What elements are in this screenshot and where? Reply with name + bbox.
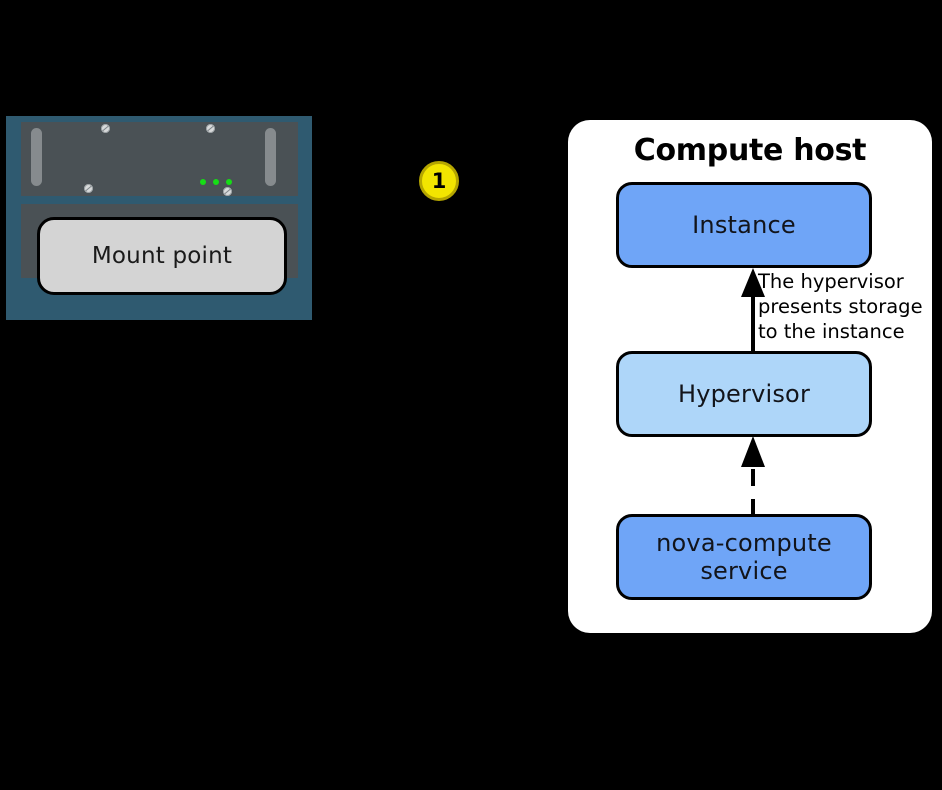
- rack-screw-icon: [101, 124, 110, 133]
- hypervisor-box: Hypervisor: [616, 351, 872, 437]
- mount-point-box: Mount point: [37, 217, 287, 295]
- rack-handle-left-icon: [31, 128, 42, 186]
- nova-compute-label-line-2: service: [700, 557, 787, 585]
- nova-compute-service-box: nova-compute service: [616, 514, 872, 600]
- compute-host-panel: Compute host Instance 3 The hypervisor p…: [568, 120, 932, 633]
- annotation-line-2: presents storage: [758, 295, 933, 320]
- status-led-icon: [200, 179, 206, 185]
- instance-box: Instance: [616, 182, 872, 268]
- status-led-icon: [226, 179, 232, 185]
- rack-unit-top-panel: [21, 122, 298, 196]
- annotation-hypervisor-presents-storage: The hypervisor presents storage to the i…: [758, 270, 933, 344]
- annotation-line-3: to the instance: [758, 320, 933, 345]
- rack-handle-right-icon: [265, 128, 276, 186]
- nova-compute-label-line-1: nova-compute: [656, 529, 832, 557]
- arrow-nova-compute-to-hypervisor: [738, 435, 768, 516]
- status-led-icon: [213, 179, 219, 185]
- compute-host-title: Compute host: [568, 133, 932, 168]
- rack-screw-icon: [206, 124, 215, 133]
- rack-screw-icon: [84, 184, 93, 193]
- step-badge-1: 1: [419, 161, 459, 201]
- rack-screw-icon: [223, 187, 232, 196]
- annotation-line-1: The hypervisor: [758, 270, 933, 295]
